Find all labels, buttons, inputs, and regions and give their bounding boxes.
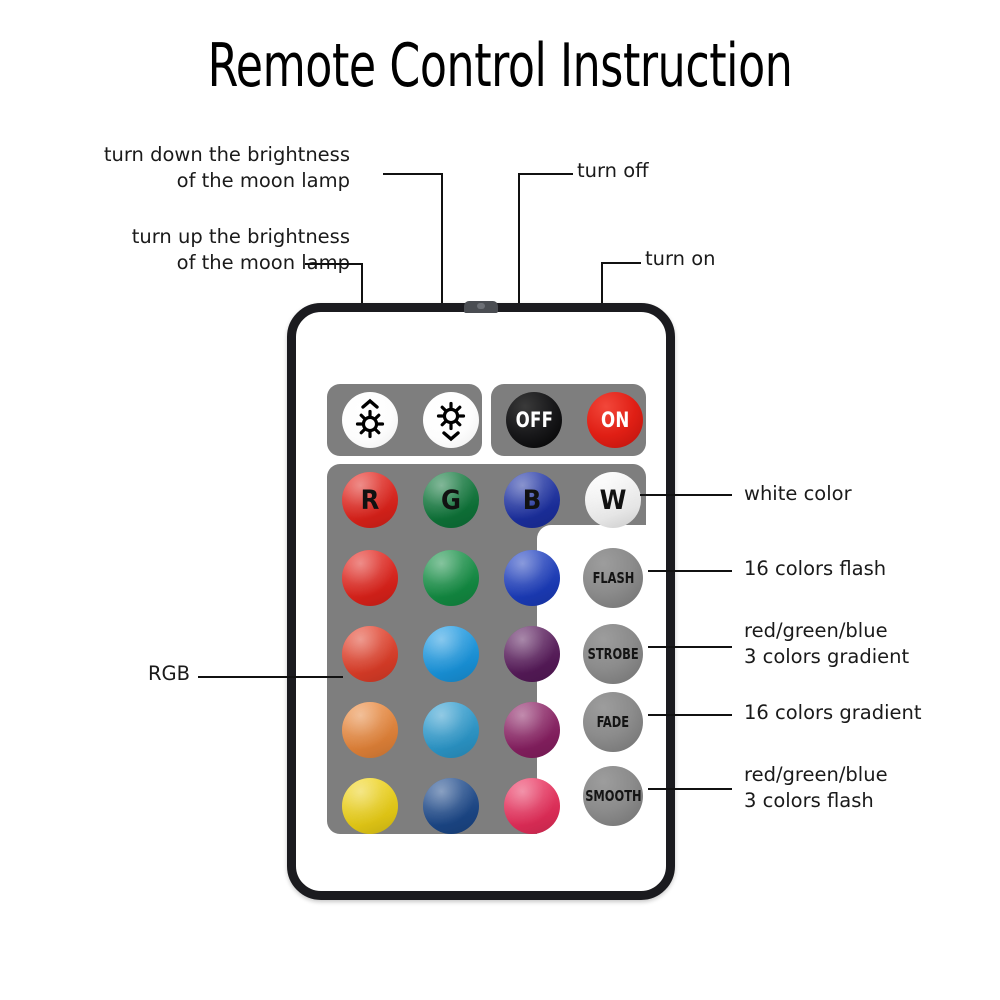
- leader-brightness-down-h: [383, 173, 443, 175]
- button-gloss: [342, 778, 398, 834]
- flash-button-label: FLASH: [592, 569, 634, 587]
- annotation-turn-off: turn off: [577, 158, 767, 184]
- strobe-button[interactable]: STROBE: [583, 624, 643, 684]
- color-blue-button[interactable]: [504, 550, 560, 606]
- button-gloss: [504, 626, 560, 682]
- annotation-white-color: white color: [744, 481, 964, 507]
- annotation-smooth: red/green/blue 3 colors flash: [744, 762, 974, 814]
- color-red-button[interactable]: [342, 550, 398, 606]
- button-gloss: [342, 550, 398, 606]
- color-magenta-purple-button[interactable]: [504, 702, 560, 758]
- green-button-label: G: [441, 485, 461, 516]
- color-pink-button[interactable]: [504, 778, 560, 834]
- button-gloss: [423, 778, 479, 834]
- color-cyan-blue-button[interactable]: [423, 626, 479, 682]
- color-yellow-button[interactable]: [342, 778, 398, 834]
- ir-emitter-icon: [464, 301, 498, 313]
- leader-rgb-h: [198, 676, 343, 678]
- blue-button-label: B: [523, 485, 542, 516]
- brightness-down-button[interactable]: [423, 392, 479, 448]
- leader-fade-h: [648, 714, 732, 716]
- fade-button-label: FADE: [597, 713, 630, 731]
- green-button[interactable]: G: [423, 472, 479, 528]
- leader-white-color-h: [640, 494, 732, 496]
- leader-turn-off-h: [518, 173, 573, 175]
- color-sky-blue-button[interactable]: [423, 702, 479, 758]
- color-dark-purple-button[interactable]: [504, 626, 560, 682]
- annotation-brightness-down: turn down the brightness of the moon lam…: [60, 142, 350, 194]
- annotation-strobe: red/green/blue 3 colors gradient: [744, 618, 974, 670]
- brightness-up-button[interactable]: [342, 392, 398, 448]
- button-gloss: [504, 702, 560, 758]
- button-gloss: [504, 778, 560, 834]
- annotation-rgb: RGB: [100, 661, 190, 687]
- sun-down-icon: [431, 398, 471, 442]
- button-gloss: [423, 702, 479, 758]
- color-orange-button[interactable]: [342, 702, 398, 758]
- annotation-turn-on: turn on: [645, 246, 835, 272]
- leader-brightness-up-h: [305, 263, 363, 265]
- leader-turn-on-h: [601, 262, 641, 264]
- leader-smooth-h: [648, 788, 732, 790]
- instruction-diagram: Remote Control Instruction turn down the…: [0, 0, 1000, 1000]
- color-orange-red-button[interactable]: [342, 626, 398, 682]
- white-button-label: W: [600, 485, 627, 516]
- red-button-label: R: [361, 485, 380, 516]
- strobe-button-label: STROBE: [587, 645, 638, 663]
- flash-button[interactable]: FLASH: [583, 548, 643, 608]
- blue-button[interactable]: B: [504, 472, 560, 528]
- color-green-button[interactable]: [423, 550, 479, 606]
- leader-strobe-h: [648, 646, 732, 648]
- button-gloss: [342, 702, 398, 758]
- white-button[interactable]: W: [585, 472, 641, 528]
- button-gloss: [423, 550, 479, 606]
- color-navy-button[interactable]: [423, 778, 479, 834]
- leader-flash-h: [648, 570, 732, 572]
- button-gloss: [342, 626, 398, 682]
- annotation-fade: 16 colors gradient: [744, 700, 984, 726]
- button-gloss: [504, 550, 560, 606]
- sun-up-icon: [350, 398, 390, 442]
- fade-button[interactable]: FADE: [583, 692, 643, 752]
- red-button[interactable]: R: [342, 472, 398, 528]
- annotation-brightness-up: turn up the brightness of the moon lamp: [40, 224, 350, 276]
- button-gloss: [423, 626, 479, 682]
- smooth-button[interactable]: SMOOTH: [583, 766, 643, 826]
- smooth-button-label: SMOOTH: [585, 787, 641, 805]
- page-title: Remote Control Instruction: [90, 34, 910, 98]
- on-button-label: ON: [601, 408, 630, 432]
- on-button[interactable]: ON: [587, 392, 643, 448]
- annotation-flash: 16 colors flash: [744, 556, 974, 582]
- off-button-label: OFF: [515, 408, 553, 432]
- remote-control-body: OFF ON R G B W: [287, 303, 675, 900]
- off-button[interactable]: OFF: [506, 392, 562, 448]
